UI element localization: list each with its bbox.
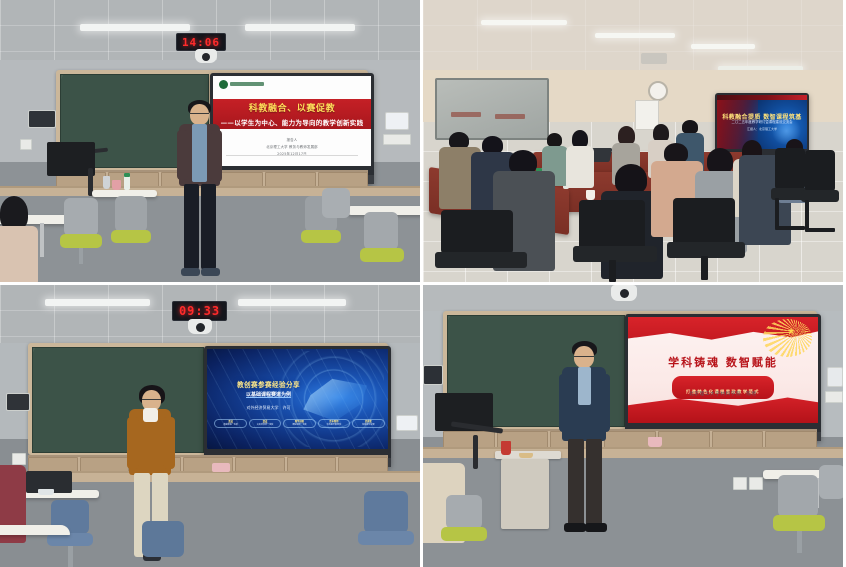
- chair: [358, 212, 406, 282]
- award-pill-bottom: 交叉培养类一等奖: [250, 424, 280, 426]
- wall-socket: [12, 453, 26, 465]
- top: [566, 146, 594, 188]
- ceiling-light: [481, 20, 567, 25]
- slide-screen: ★ 学科铸魂 数智赋能 打造特色化课程思政教学范式 北京理工大学材料学院 陈煜: [628, 317, 818, 423]
- glasses: [190, 113, 209, 114]
- slide-footer: 报告人 北京理工大学 教务与教师发展部 2025年12月17日: [213, 137, 371, 156]
- chair: [356, 491, 416, 567]
- award-pill: 赛道 交叉培养类一等奖: [249, 419, 281, 428]
- chair: [136, 521, 190, 567]
- award-pill-bottom: 校级教学成果: [353, 424, 383, 426]
- slide-bottom-right: ★ 学科铸魂 数智赋能 打造特色化课程思政教学范式 北京理工大学材料学院 陈煜: [628, 317, 818, 423]
- award-pill: 赛道 基础课程一等奖: [214, 419, 246, 428]
- wall-clock-icon: [648, 81, 668, 101]
- wall-notice: [385, 112, 409, 130]
- hair: [664, 143, 688, 163]
- tray: [212, 463, 230, 472]
- snack: [519, 453, 533, 458]
- slide-subtitle: 二〇二五年度教学研讨暨课程建设交流会: [717, 119, 807, 124]
- chair: [318, 188, 358, 248]
- chair-back: [364, 212, 398, 250]
- slide-subtitle-text: 以基础课程赛道为例: [246, 392, 291, 398]
- slide-screen: 教创赛参赛经验分享 以基础课程赛道为例 对外经济贸易大学 许可 赛道 基础课程一…: [207, 349, 388, 449]
- university-logo-icon: [219, 80, 264, 89]
- head: [190, 104, 209, 125]
- camera-lens: [202, 53, 210, 61]
- chair: [441, 495, 491, 567]
- hair: [547, 133, 562, 147]
- cup: [586, 190, 595, 200]
- cart-body: [501, 459, 549, 529]
- ceiling-light: [691, 44, 755, 49]
- award-pill: 教学创新 课程思政一等奖: [283, 419, 315, 428]
- ceiling-camera: [188, 319, 212, 334]
- wall-control-panel: [423, 365, 443, 385]
- chair-seat: [358, 531, 414, 545]
- photo-bottom-right: ★ 学科铸魂 数智赋能 打造特色化课程思政教学范式 北京理工大学材料学院 陈煜: [423, 285, 843, 567]
- chair-back: [364, 491, 408, 533]
- presentation-display: 教创赛参赛经验分享 以基础课程赛道为例 对外经济贸易大学 许可 赛道 基础课程一…: [204, 346, 391, 467]
- tray: [648, 437, 662, 447]
- ceiling-camera: [195, 49, 217, 63]
- slide-top-left: 科教融合、以赛促教 ——以学生为中心、能力为导向的教学创新实践 报告人 北京理工…: [213, 76, 371, 166]
- chair-back: [322, 188, 350, 218]
- attendee-person: [565, 130, 595, 186]
- chair-back: [64, 198, 98, 236]
- leg-right: [586, 439, 602, 527]
- chair-seat: [441, 527, 487, 541]
- ceiling-light: [80, 24, 190, 31]
- coat: [0, 226, 38, 282]
- slide-screen: 科教融合、以赛促教 ——以学生为中心、能力为导向的教学创新实践 报告人 北京理工…: [213, 76, 371, 166]
- hair: [615, 164, 647, 194]
- slide-title-band: 科教融合、以赛促教 ——以学生为中心、能力为导向的教学创新实践: [213, 99, 371, 130]
- camera-lens: [620, 289, 629, 298]
- office-chair: [801, 150, 839, 234]
- wall-socket: [20, 139, 32, 150]
- clock-time: 09:33: [179, 304, 220, 318]
- collar: [143, 408, 158, 422]
- round-table: [0, 525, 70, 535]
- wall-control-panel: [6, 393, 30, 411]
- presenter-person: [170, 100, 230, 280]
- cup: [112, 180, 121, 190]
- slide-sunburst: [763, 319, 812, 357]
- arm-right: [211, 130, 222, 182]
- photo-top-right: 科教融合提质 数智课程筑基 二〇二五年度教学研讨暨课程建设交流会 汇报人：北京理…: [423, 0, 843, 282]
- wall-trim: [423, 447, 843, 458]
- award-pill-bottom: 课程思政一等奖: [284, 424, 314, 426]
- presentation-display: ★ 学科铸魂 数智赋能 打造特色化课程思政教学范式 北京理工大学材料学院 陈煜: [625, 314, 821, 441]
- award-pill: 优秀奖 校级教学成果: [352, 419, 384, 428]
- chair-back: [446, 495, 482, 529]
- chair-back: [819, 465, 843, 499]
- water-bottle: [124, 173, 130, 190]
- camera-lens: [196, 323, 205, 332]
- presentation-display: 科教融合、以赛促教 ——以学生为中心、能力为导向的教学创新实践 报告人 北京理工…: [210, 73, 374, 184]
- digital-clock: 09:33: [172, 301, 227, 321]
- ceiling-light: [45, 299, 150, 306]
- chair-seat: [111, 230, 151, 243]
- cup: [501, 441, 511, 455]
- office-chair: [573, 200, 657, 282]
- award-pill: 青年教师 优秀教学案例奖: [318, 419, 350, 428]
- ceiling-light: [595, 33, 675, 38]
- monitor-post: [473, 435, 478, 469]
- arm-right: [163, 417, 175, 469]
- shoe-left: [564, 523, 586, 532]
- arm-right: [598, 374, 610, 432]
- slide-presenter: 汇报人：北京理工大学: [717, 127, 807, 131]
- shoe-left: [181, 268, 200, 276]
- arm-left: [177, 130, 188, 180]
- slide-title: 科教融合、以赛促教: [249, 101, 335, 114]
- chair: [110, 196, 154, 264]
- chair-seat: [60, 234, 102, 248]
- slide-award-pills: 赛道 基础课程一等奖 赛道 交叉培养类一等奖 教学创新 课程思政一等奖 青年: [212, 419, 386, 428]
- wall-socket: [383, 134, 411, 145]
- star-icon: ★: [787, 328, 795, 337]
- office-chair: [667, 198, 745, 282]
- chair: [815, 465, 843, 529]
- leg-right: [201, 184, 216, 270]
- slide-footer-line: 报告人: [287, 137, 298, 142]
- leg-left: [568, 439, 584, 527]
- wall-text-banner: [451, 112, 481, 117]
- ceiling-projector: [641, 53, 667, 64]
- photo-bottom-left: 09:33 教创赛参赛经验分享 以基础课程赛道为例 对外经济贸易大学 许可 赛道: [0, 285, 420, 567]
- chair: [58, 198, 104, 266]
- office-chair: [435, 210, 527, 282]
- glasses: [142, 399, 161, 400]
- slide-subtitle: 以基础课程赛道为例: [218, 391, 319, 398]
- slide-divider: [226, 155, 359, 156]
- wall-panel: [827, 367, 843, 387]
- presenter-person: [556, 341, 614, 535]
- arm-left: [559, 374, 571, 432]
- ceiling-camera: [611, 285, 637, 301]
- cup: [103, 176, 110, 189]
- attendee-person: [0, 196, 40, 282]
- wall-control-panel: [28, 110, 56, 128]
- chair-post: [797, 531, 802, 553]
- shoe-right: [585, 523, 607, 532]
- ceiling-light: [245, 24, 355, 31]
- glasses: [574, 356, 594, 357]
- wall-socket: [749, 477, 763, 490]
- chair-back: [115, 196, 147, 232]
- wall-text-banner: [495, 114, 525, 119]
- hair: [682, 120, 698, 134]
- slide-top-bar: [717, 95, 807, 100]
- wall-socket: [733, 477, 747, 490]
- shirt: [192, 124, 207, 182]
- chair-back: [778, 475, 818, 517]
- wall-switch: [396, 415, 418, 431]
- slide-presenter: 北京理工大学材料学院 陈煜: [628, 391, 818, 397]
- award-pill-bottom: 基础课程一等奖: [215, 424, 245, 426]
- chair-seat: [360, 248, 404, 262]
- award-pill-bottom: 优秀教学案例奖: [319, 424, 349, 426]
- slide-title: 学科铸魂 数智赋能: [628, 354, 818, 370]
- chair-back: [142, 521, 184, 557]
- photo-collage: 14:06 科教融合、以赛促教 ——以学生为中心、能力为导向的教学创新实践 报告…: [0, 0, 846, 567]
- slide-bottom-left: 教创赛参赛经验分享 以基础课程赛道为例 对外经济贸易大学 许可 赛道 基础课程一…: [207, 349, 388, 449]
- chair-post: [68, 546, 73, 567]
- wall-socket: [825, 391, 843, 403]
- slide-subtitle: ——以学生为中心、能力为导向的教学创新实践: [221, 117, 364, 127]
- photo-top-left: 14:06 科教融合、以赛促教 ——以学生为中心、能力为导向的教学创新实践 报告…: [0, 0, 420, 282]
- slide-title: 教创赛参赛经验分享: [218, 379, 319, 389]
- head: [574, 346, 594, 368]
- glass-partition: [435, 78, 549, 140]
- arm-left: [127, 417, 139, 469]
- ceiling-light: [238, 299, 346, 306]
- shirt: [578, 367, 591, 405]
- table-leg: [40, 223, 44, 257]
- chair-post: [79, 248, 83, 264]
- cup: [38, 489, 54, 495]
- leg-left: [184, 184, 199, 270]
- slide-footer-line: 北京理工大学 教务与教师发展部: [266, 144, 318, 149]
- slide-presenter: 对外经济贸易大学 许可: [218, 405, 319, 411]
- hair: [0, 196, 28, 230]
- shoe-right: [201, 268, 220, 276]
- clock-time: 14:06: [182, 36, 220, 49]
